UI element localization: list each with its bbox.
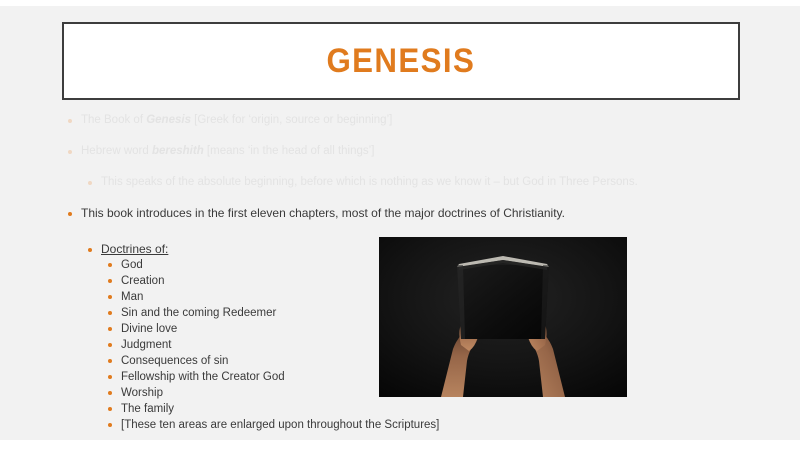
list-item: [These ten areas are enlarged upon throu… [108, 417, 439, 433]
bullet-item: Hebrew word bereshith [means ‘in the hea… [68, 144, 374, 159]
bullet-dot-icon [108, 391, 112, 395]
sub-bullet-item: This speaks of the absolute beginning, b… [88, 175, 638, 190]
list-item-label: Worship [121, 385, 163, 401]
bullet-text: This book introduces in the first eleven… [81, 206, 565, 221]
bullet-text-part: Hebrew word [81, 145, 152, 157]
bullet-text-emphasis: Genesis [146, 114, 191, 126]
list-item-label: Consequences of sin [121, 353, 228, 369]
presentation-slide: GENESIS The Book of Genesis [Greek for ‘… [0, 0, 800, 450]
page-title: GENESIS [327, 42, 476, 81]
title-box: GENESIS [62, 22, 740, 100]
bullet-dot-icon [108, 263, 112, 267]
list-item-label: Judgment [121, 337, 172, 353]
bullet-dot-icon [108, 423, 112, 427]
bullet-dot-icon [68, 212, 72, 216]
list-item-label: Sin and the coming Redeemer [121, 305, 276, 321]
bullet-dot-icon [108, 407, 112, 411]
bullet-dot-icon [68, 150, 72, 154]
bullet-text-part: [means ‘in the head of all things’] [204, 145, 375, 157]
bullet-item: This book introduces in the first eleven… [68, 206, 565, 221]
bullet-text-part: The Book of [81, 114, 146, 126]
bullet-dot-icon [68, 119, 72, 123]
bullet-text-emphasis: bereshith [152, 145, 204, 157]
bullet-text: The Book of Genesis [Greek for ‘origin, … [81, 113, 392, 128]
bullet-dot-icon [88, 181, 92, 185]
book-photo [379, 237, 627, 397]
bullet-dot-icon [108, 343, 112, 347]
list-item-label: Divine love [121, 321, 177, 337]
bullet-dot-icon [108, 279, 112, 283]
bullet-text-part: [Greek for ‘origin, source or beginning’… [191, 114, 392, 126]
bullet-dot-icon [88, 248, 92, 252]
bullet-dot-icon [108, 327, 112, 331]
doctrines-heading-text: Doctrines of: [101, 242, 168, 256]
list-item: The family [108, 401, 439, 417]
bullet-dot-icon [108, 311, 112, 315]
bullet-text: Hebrew word bereshith [means ‘in the hea… [81, 144, 374, 159]
bullet-dot-icon [108, 375, 112, 379]
list-item-label: The family [121, 401, 174, 417]
list-item-label: [These ten areas are enlarged upon throu… [121, 417, 439, 433]
sub-bullet-text: This speaks of the absolute beginning, b… [101, 175, 638, 190]
doctrines-heading: Doctrines of: [101, 242, 168, 257]
list-item-label: Fellowship with the Creator God [121, 369, 285, 385]
book-photo-illustration [379, 237, 627, 397]
bullet-dot-icon [108, 295, 112, 299]
bullet-item: The Book of Genesis [Greek for ‘origin, … [68, 113, 392, 128]
list-item-label: Creation [121, 273, 164, 289]
list-item-label: God [121, 257, 143, 273]
list-item-label: Man [121, 289, 143, 305]
bullet-dot-icon [108, 359, 112, 363]
